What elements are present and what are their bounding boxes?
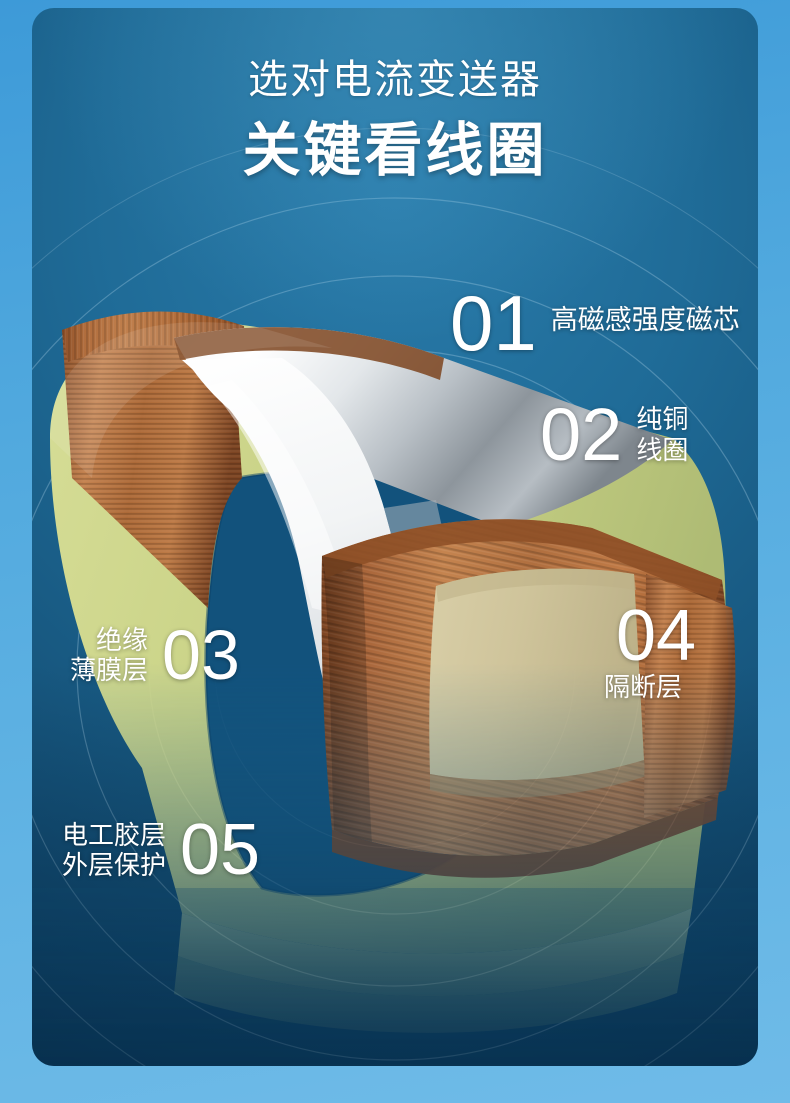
callout-01: 01 高磁感强度磁芯 [450,286,740,360]
callout-05-number: 05 [180,816,260,884]
poster-subtitle: 选对电流变送器 [32,56,758,104]
poster-heading-block: 选对电流变送器 关键看线圈 [32,56,758,185]
callout-02-caption: 纯铜 线圈 [636,404,688,465]
callout-02-number: 02 [540,400,622,470]
callout-03-number: 03 [162,622,240,689]
callout-05: 电工胶层 外层保护 05 [62,816,260,884]
callout-04-number: 04 [616,602,696,670]
callout-04-caption: 隔断层 [604,672,682,703]
callout-03: 绝缘 薄膜层 03 [70,622,240,689]
callout-01-number: 01 [450,286,537,360]
callout-01-caption: 高磁感强度磁芯 [551,305,740,341]
product-feature-poster: 选对电流变送器 关键看线圈 01 高磁感强度磁芯 02 纯铜 线圈 绝缘 薄膜层… [0,0,790,1103]
callout-04: 04 隔断层 [604,602,696,703]
poster-inner-panel: 选对电流变送器 关键看线圈 01 高磁感强度磁芯 02 纯铜 线圈 绝缘 薄膜层… [32,8,758,1066]
callout-03-caption: 绝缘 薄膜层 [70,625,148,686]
callout-05-caption: 电工胶层 外层保护 [62,820,166,881]
poster-title: 关键看线圈 [32,118,758,185]
callout-02: 02 纯铜 线圈 [540,400,688,470]
